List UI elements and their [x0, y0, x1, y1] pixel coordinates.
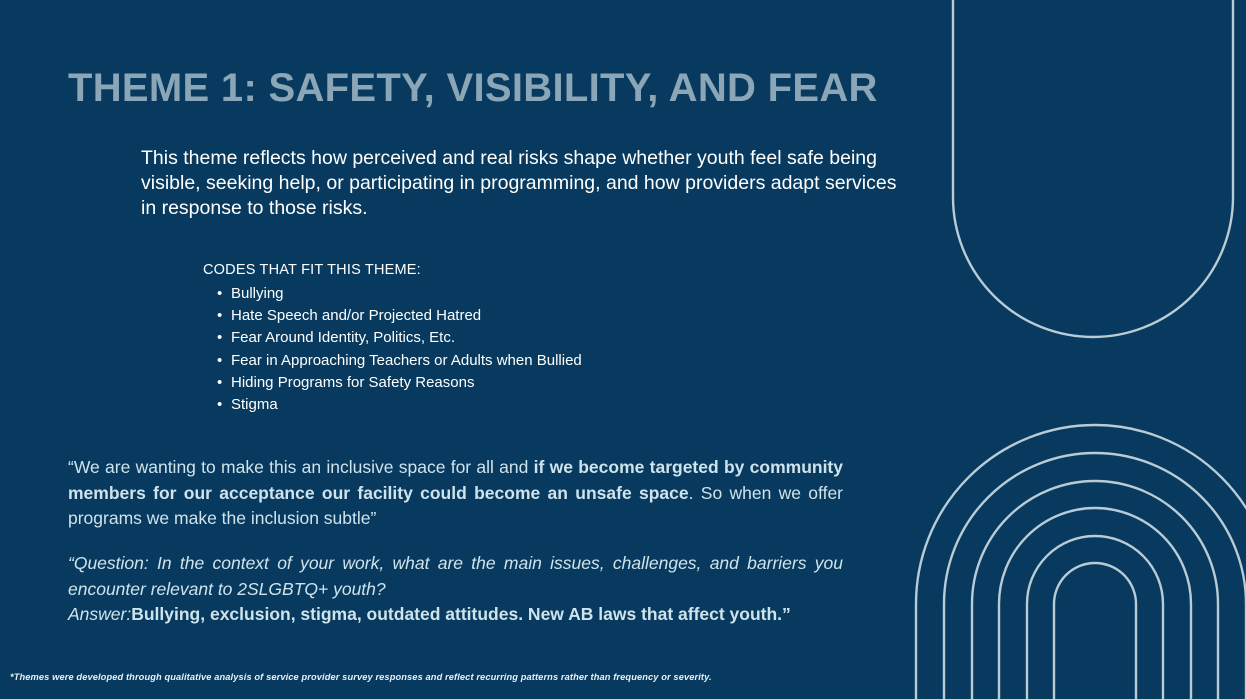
participant-quote-one: “We are wanting to make this an inclusiv…	[68, 455, 843, 532]
answer-label: Answer:	[68, 604, 131, 624]
list-item: • Stigma	[203, 394, 823, 416]
codes-list: • Bullying • Hate Speech and/or Projecte…	[203, 283, 823, 416]
participant-quote-two: “Question: In the context of your work, …	[68, 551, 843, 628]
theme-description: This theme reflects how perceived and re…	[141, 146, 901, 221]
list-item-label: Hate Speech and/or Projected Hatred	[231, 307, 481, 324]
slide-canvas: THEME 1: SAFETY, VISIBILITY, AND FEAR Th…	[0, 0, 1246, 699]
bullet-icon: •	[217, 372, 222, 394]
answer-text: Bullying, exclusion, stigma, outdated at…	[131, 604, 791, 624]
question-label: “Question:	[68, 553, 149, 573]
list-item: • Fear Around Identity, Politics, Etc.	[203, 327, 823, 349]
list-item-label: Fear in Approaching Teachers or Adults w…	[231, 352, 582, 369]
list-item-label: Bullying	[231, 285, 284, 302]
bullet-icon: •	[217, 305, 222, 327]
list-item-label: Fear Around Identity, Politics, Etc.	[231, 329, 455, 346]
list-item-label: Hiding Programs for Safety Reasons	[231, 374, 474, 391]
list-item-label: Stigma	[231, 396, 278, 413]
list-item: • Fear in Approaching Teachers or Adults…	[203, 350, 823, 372]
quote-two-answer-line: Answer:Bullying, exclusion, stigma, outd…	[68, 602, 843, 628]
quote-two-question-line: “Question: In the context of your work, …	[68, 551, 843, 602]
list-item: • Hiding Programs for Safety Reasons	[203, 372, 823, 394]
bullet-icon: •	[217, 283, 222, 305]
codes-section: CODES THAT FIT THIS THEME: • Bullying • …	[203, 262, 823, 416]
bullet-icon: •	[217, 394, 222, 416]
bullet-icon: •	[217, 327, 222, 349]
codes-heading: CODES THAT FIT THIS THEME:	[203, 262, 823, 278]
bullet-icon: •	[217, 350, 222, 372]
question-text: In the context of your work, what are th…	[68, 553, 843, 599]
list-item: • Hate Speech and/or Projected Hatred	[203, 305, 823, 327]
page-title: THEME 1: SAFETY, VISIBILITY, AND FEAR	[68, 66, 878, 111]
list-item: • Bullying	[203, 283, 823, 305]
footnote: *Themes were developed through qualitati…	[10, 672, 712, 682]
quote-one-opening: “We are wanting to make this an inclusiv…	[68, 457, 534, 477]
